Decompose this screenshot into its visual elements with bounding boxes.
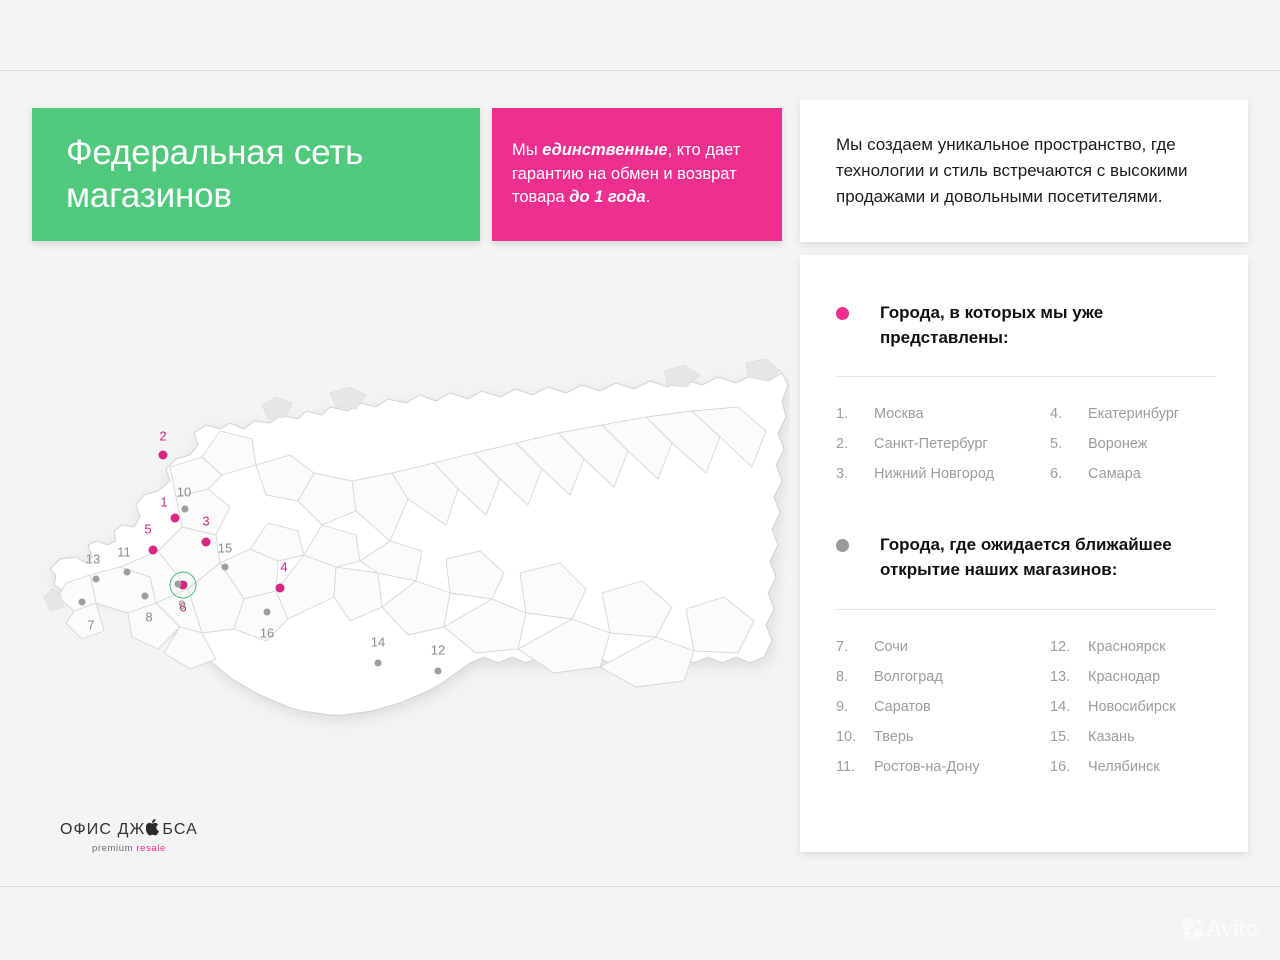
list-item[interactable]: 10.Тверь	[836, 722, 1050, 752]
map-marker-label-2: 2	[159, 429, 166, 444]
list-item[interactable]: 5.Воронеж	[1050, 429, 1216, 459]
map-marker-label-14: 14	[371, 635, 385, 650]
city-name: Ростов-на-Дону	[874, 752, 980, 782]
city-name: Воронеж	[1088, 429, 1147, 459]
map-marker-label-1: 1	[160, 495, 167, 510]
logo-text-right: БСА	[162, 821, 198, 839]
avito-watermark: Avito	[1180, 916, 1258, 942]
city-name: Красноярск	[1088, 632, 1165, 662]
logo-text-left: ОФИС ДЖ	[60, 821, 145, 839]
map-marker-dot-15[interactable]	[222, 564, 229, 571]
map-marker-dot-9[interactable]	[175, 581, 182, 588]
brand-logo: ОФИС ДЖ БСА premium resale	[60, 818, 198, 854]
list-item[interactable]: 11.Ростов-на-Дону	[836, 752, 1050, 782]
city-number: 11.	[836, 752, 874, 782]
apple-glyph	[146, 818, 161, 836]
present-city-list: 1.Москва 4.Екатеринбург 2.Санкт-Петербур…	[836, 399, 1216, 489]
city-number: 4.	[1050, 399, 1088, 429]
grey-dot-icon	[836, 539, 849, 552]
list-item[interactable]: 9.Саратов	[836, 692, 1050, 722]
map-marker-dot-3[interactable]	[202, 538, 211, 547]
logo-wordmark: ОФИС ДЖ БСА	[60, 818, 198, 841]
city-name: Екатеринбург	[1088, 399, 1179, 429]
map-marker-dot-10[interactable]	[182, 506, 189, 513]
guarantee-card: Мы единственные, кто дает гарантию на об…	[492, 108, 782, 241]
map-marker-dot-14[interactable]	[375, 660, 382, 667]
map-marker-label-13: 13	[86, 552, 100, 567]
map-marker-label-7: 7	[87, 618, 94, 633]
guarantee-emphasis-1: единственные	[542, 141, 667, 159]
city-number: 12.	[1050, 632, 1088, 662]
pink-dot-icon	[836, 307, 849, 320]
headline-line-1: Федеральная сеть	[66, 133, 363, 172]
city-number: 3.	[836, 459, 874, 489]
city-number: 16.	[1050, 752, 1088, 782]
list-item[interactable]: 14.Новосибирск	[1050, 692, 1216, 722]
list-item[interactable]: 12.Красноярск	[1050, 632, 1216, 662]
city-number: 6.	[1050, 459, 1088, 489]
map-marker-label-4: 4	[280, 560, 287, 575]
map-marker-label-9: 9	[178, 598, 185, 613]
city-name: Самара	[1088, 459, 1141, 489]
city-number: 14.	[1050, 692, 1088, 722]
map-marker-dot-7[interactable]	[79, 599, 86, 606]
map-marker-dot-13[interactable]	[93, 576, 100, 583]
city-number: 1.	[836, 399, 874, 429]
map-marker-label-15: 15	[218, 541, 232, 556]
map-marker-label-5: 5	[144, 522, 151, 537]
guarantee-emphasis-2: до 1 года	[569, 188, 645, 206]
logo-tagline-premium: premium	[92, 843, 136, 854]
map-marker-label-10: 10	[177, 485, 191, 500]
map-marker-dot-11[interactable]	[124, 569, 131, 576]
list-item[interactable]: 3.Нижний Новгород	[836, 459, 1050, 489]
guarantee-text: Мы единственные, кто дает гарантию на об…	[492, 139, 782, 209]
list-item[interactable]: 2.Санкт-Петербург	[836, 429, 1050, 459]
city-name: Челябинск	[1088, 752, 1160, 782]
upcoming-city-list: 7.Сочи 12.Красноярск 8.Волгоград 13.Крас…	[836, 632, 1216, 782]
avito-wordmark: Avito	[1206, 916, 1258, 942]
city-number: 10.	[836, 722, 874, 752]
city-number: 5.	[1050, 429, 1088, 459]
map-marker-dot-12[interactable]	[435, 668, 442, 675]
list-item[interactable]: 8.Волгоград	[836, 662, 1050, 692]
intro-card: Мы создаем уникальное пространство, где …	[800, 100, 1248, 242]
list-item[interactable]: 6.Самара	[1050, 459, 1216, 489]
map-marker-label-3: 3	[202, 514, 209, 529]
apple-icon	[146, 818, 161, 841]
map-marker-dot-1[interactable]	[171, 514, 180, 523]
map-marker-dot-5[interactable]	[149, 546, 158, 555]
list-item[interactable]: 16.Челябинск	[1050, 752, 1216, 782]
city-name: Тверь	[874, 722, 913, 752]
city-name: Казань	[1088, 722, 1135, 752]
city-name: Санкт-Петербург	[874, 429, 988, 459]
legend-divider-present	[836, 376, 1216, 377]
city-name: Новосибирск	[1088, 692, 1176, 722]
city-number: 9.	[836, 692, 874, 722]
map-marker-dot-8[interactable]	[142, 593, 149, 600]
city-number: 7.	[836, 632, 874, 662]
page-title: Федеральная сеть магазинов	[32, 132, 363, 217]
map-marker-dot-16[interactable]	[264, 609, 271, 616]
list-item[interactable]: 4.Екатеринбург	[1050, 399, 1216, 429]
logo-tagline-resale: resale	[136, 843, 165, 854]
top-divider	[0, 70, 1280, 71]
map-marker-label-11: 11	[117, 545, 131, 560]
city-name: Волгоград	[874, 662, 943, 692]
avito-logo-icon	[1180, 916, 1206, 942]
city-number: 15.	[1050, 722, 1088, 752]
legend-panel: Города, в которых мы уже представлены: 1…	[800, 255, 1248, 852]
slide-root: Федеральная сеть магазинов Мы единственн…	[0, 0, 1280, 960]
city-name: Краснодар	[1088, 662, 1160, 692]
legend-present-title: Города, в которых мы уже представлены:	[880, 301, 1216, 350]
list-item[interactable]: 13.Краснодар	[1050, 662, 1216, 692]
headline-card: Федеральная сеть магазинов	[32, 108, 480, 241]
legend-spacer	[836, 489, 1216, 533]
logo-tagline: premium resale	[60, 843, 198, 854]
city-number: 8.	[836, 662, 874, 692]
city-number: 2.	[836, 429, 874, 459]
top-band	[0, 0, 1280, 70]
guarantee-part-3: .	[646, 188, 651, 206]
map-marker-label-8: 8	[145, 610, 152, 625]
city-name: Саратов	[874, 692, 931, 722]
intro-text: Мы создаем уникальное пространство, где …	[800, 132, 1248, 209]
map-marker-dot-2[interactable]	[159, 451, 168, 460]
legend-heading-upcoming: Города, где ожидается ближайшее открытие…	[836, 533, 1216, 582]
city-name: Москва	[874, 399, 924, 429]
city-number: 13.	[1050, 662, 1088, 692]
headline-line-2: магазинов	[66, 176, 232, 215]
list-item[interactable]: 15.Казань	[1050, 722, 1216, 752]
bottom-band	[0, 887, 1280, 960]
legend-divider-upcoming	[836, 609, 1216, 610]
city-name: Сочи	[874, 632, 908, 662]
legend-heading-present: Города, в которых мы уже представлены:	[836, 301, 1216, 350]
city-name: Нижний Новгород	[874, 459, 994, 489]
map-marker-label-16: 16	[260, 626, 274, 641]
guarantee-part-1: Мы	[512, 141, 542, 159]
russia-map[interactable]: 12345678910111213141516	[30, 345, 790, 845]
map-marker-label-12: 12	[431, 643, 445, 658]
legend-upcoming-title: Города, где ожидается ближайшее открытие…	[880, 533, 1216, 582]
map-marker-dot-4[interactable]	[276, 584, 285, 593]
list-item[interactable]: 7.Сочи	[836, 632, 1050, 662]
list-item[interactable]: 1.Москва	[836, 399, 1050, 429]
